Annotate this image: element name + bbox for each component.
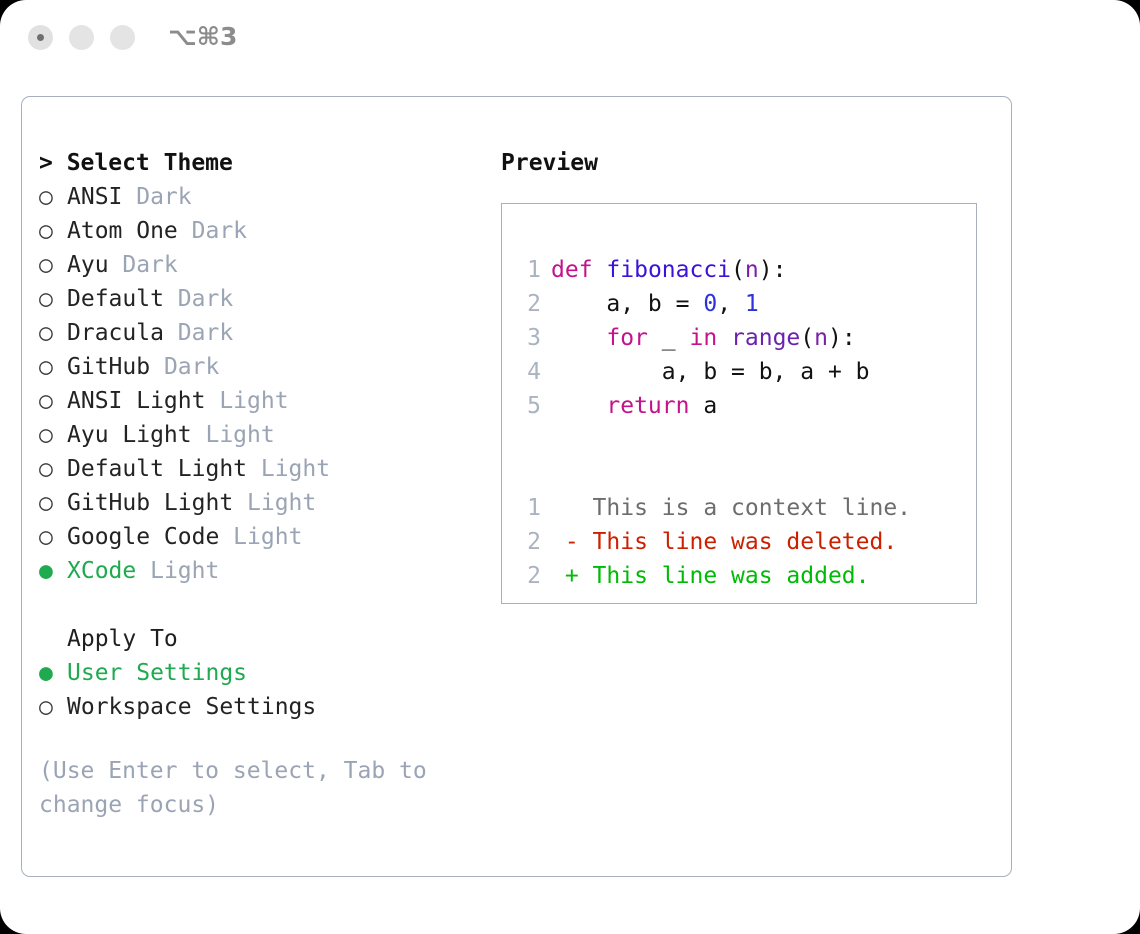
radio-unselected-icon[interactable]: ○ [39,282,67,316]
theme-option-label: GitHub Light [67,490,233,516]
code-token: fibonacci [606,257,731,283]
code-token: ( [800,325,814,351]
code-line: 1def fibonacci(n): [519,253,911,287]
code-token: 0 [703,291,717,317]
code-line: 4 a, b = b, a + b [519,355,911,389]
code-token: return [606,393,689,419]
code-token: a [689,393,717,419]
theme-option-category: Light [233,490,316,516]
theme-option-label: XCode [67,558,136,584]
preview-heading: Preview [501,146,991,180]
theme-option-label: Default Light [67,456,247,482]
code-line: 2 a, b = 0, 1 [519,287,911,321]
app-window: ⌥⌘3 > Select Theme ○ANSI Dark○Atom One D… [0,0,1140,934]
theme-option-ansi[interactable]: ○ANSI Dark [39,180,479,214]
code-token: n [745,257,759,283]
theme-option-label: Dracula [67,320,164,346]
theme-option-label: ANSI Light [67,388,205,414]
code-token: a, b = b, a + b [551,359,870,385]
theme-option-category: Dark [109,252,178,278]
code-token: n [814,325,828,351]
diff-line-text: This is a context line. [551,495,911,521]
theme-option-ansi-light[interactable]: ○ANSI Light Light [39,384,479,418]
theme-option-category: Light [219,524,302,550]
theme-option-label: GitHub [67,354,150,380]
apply-to-option-label: User Settings [67,660,247,686]
diff-line-add: 2 + This line was added. [519,559,911,593]
window-dot-icon-2[interactable] [69,25,94,50]
radio-unselected-icon[interactable]: ○ [39,316,67,350]
preview-box: 1def fibonacci(n):2 a, b = 0, 13 for _ i… [501,203,977,604]
theme-option-category: Light [247,456,330,482]
radio-unselected-icon[interactable]: ○ [39,520,67,554]
theme-option-default[interactable]: ○Default Dark [39,282,479,316]
radio-unselected-icon[interactable]: ○ [39,384,67,418]
preview-column: Preview 1def fibonacci(n):2 a, b = 0, 13… [501,146,991,604]
radio-unselected-icon[interactable]: ○ [39,486,67,520]
theme-option-google-code[interactable]: ○Google Code Light [39,520,479,554]
theme-option-dracula[interactable]: ○Dracula Dark [39,316,479,350]
theme-option-category: Light [136,558,219,584]
theme-option-label: Google Code [67,524,219,550]
diff-line-text: - This line was deleted. [551,529,897,555]
code-blank-line-2 [519,457,911,491]
code-token: ): [828,325,856,351]
radio-unselected-icon[interactable]: ○ [39,248,67,282]
keyboard-hint-line-2: change focus) [39,788,439,822]
theme-option-category: Dark [150,354,219,380]
code-token [551,325,606,351]
theme-option-ayu-light[interactable]: ○Ayu Light Light [39,418,479,452]
theme-option-category: Dark [164,286,233,312]
theme-option-category: Dark [164,320,233,346]
theme-option-label: ANSI [67,184,122,210]
code-token [551,393,606,419]
radio-unselected-icon[interactable]: ○ [39,214,67,248]
radio-unselected-icon[interactable]: ○ [39,690,67,724]
code-line: 3 for _ in range(n): [519,321,911,355]
theme-option-label: Default [67,286,164,312]
code-line-number: 1 [519,253,541,287]
keyboard-hint-text: (Use Enter to select, Tab to change focu… [39,754,439,822]
window-dot-inner [37,34,44,41]
code-token: def [551,257,593,283]
apply-to-option-label: Workspace Settings [67,694,316,720]
theme-selection-column: > Select Theme ○ANSI Dark○Atom One Dark○… [39,146,479,822]
keyboard-shortcut-label: ⌥⌘3 [168,22,237,51]
radio-selected-icon[interactable]: ● [39,554,67,588]
code-token: a, b = [551,291,703,317]
theme-option-label: Atom One [67,218,178,244]
theme-option-github[interactable]: ○GitHub Dark [39,350,479,384]
theme-option-category: Dark [122,184,191,210]
diff-line-text: + This line was added. [551,563,870,589]
code-token: range [731,325,800,351]
theme-picker-panel: > Select Theme ○ANSI Dark○Atom One Dark○… [21,96,1012,877]
diff-line-del: 2 - This line was deleted. [519,525,911,559]
code-token [593,257,607,283]
window-titlebar: ⌥⌘3 [0,0,1140,82]
theme-option-xcode[interactable]: ●XCode Light [39,554,479,588]
code-token: ): [759,257,787,283]
code-line-number: 3 [519,321,541,355]
code-token [717,325,731,351]
apply-to-heading: Apply To [39,622,479,656]
code-line: 5 return a [519,389,911,423]
radio-unselected-icon[interactable]: ○ [39,180,67,214]
theme-option-label: Ayu [67,252,109,278]
code-token: _ [648,325,690,351]
code-blank-line [519,423,911,457]
code-token: , [717,291,745,317]
code-token: ( [731,257,745,283]
window-dot-icon-3[interactable] [110,25,135,50]
code-line-number: 5 [519,389,541,423]
theme-option-category: Light [192,422,275,448]
diff-line-number: 2 [519,525,541,559]
theme-option-default-light[interactable]: ○Default Light Light [39,452,479,486]
theme-option-list[interactable]: ○ANSI Dark○Atom One Dark○Ayu Dark○Defaul… [39,180,479,588]
apply-to-option-user-settings[interactable]: ●User Settings [39,656,479,690]
code-token: 1 [745,291,759,317]
theme-option-category: Dark [178,218,247,244]
window-dot-active-icon[interactable] [28,25,53,50]
radio-selected-icon[interactable]: ● [39,656,67,690]
code-line-number: 2 [519,287,541,321]
diff-line-number: 2 [519,559,541,593]
code-token: for [606,325,648,351]
theme-option-github-light[interactable]: ○GitHub Light Light [39,486,479,520]
theme-option-category: Light [205,388,288,414]
diff-line-ctx: 1 This is a context line. [519,491,911,525]
select-theme-heading: > Select Theme [39,146,479,180]
theme-option-ayu[interactable]: ○Ayu Dark [39,248,479,282]
keyboard-hint-line-1: (Use Enter to select, Tab to [39,754,439,788]
radio-unselected-icon[interactable]: ○ [39,452,67,486]
code-preview: 1def fibonacci(n):2 a, b = 0, 13 for _ i… [519,253,911,593]
diff-line-number: 1 [519,491,541,525]
theme-option-label: Ayu Light [67,422,192,448]
window-controls[interactable] [28,25,135,50]
code-token: in [689,325,717,351]
code-line-number: 4 [519,355,541,389]
apply-to-option-list[interactable]: ●User Settings○Workspace Settings [39,656,479,724]
radio-unselected-icon[interactable]: ○ [39,350,67,384]
radio-unselected-icon[interactable]: ○ [39,418,67,452]
theme-option-atom-one[interactable]: ○Atom One Dark [39,214,479,248]
apply-to-option-workspace-settings[interactable]: ○Workspace Settings [39,690,479,724]
